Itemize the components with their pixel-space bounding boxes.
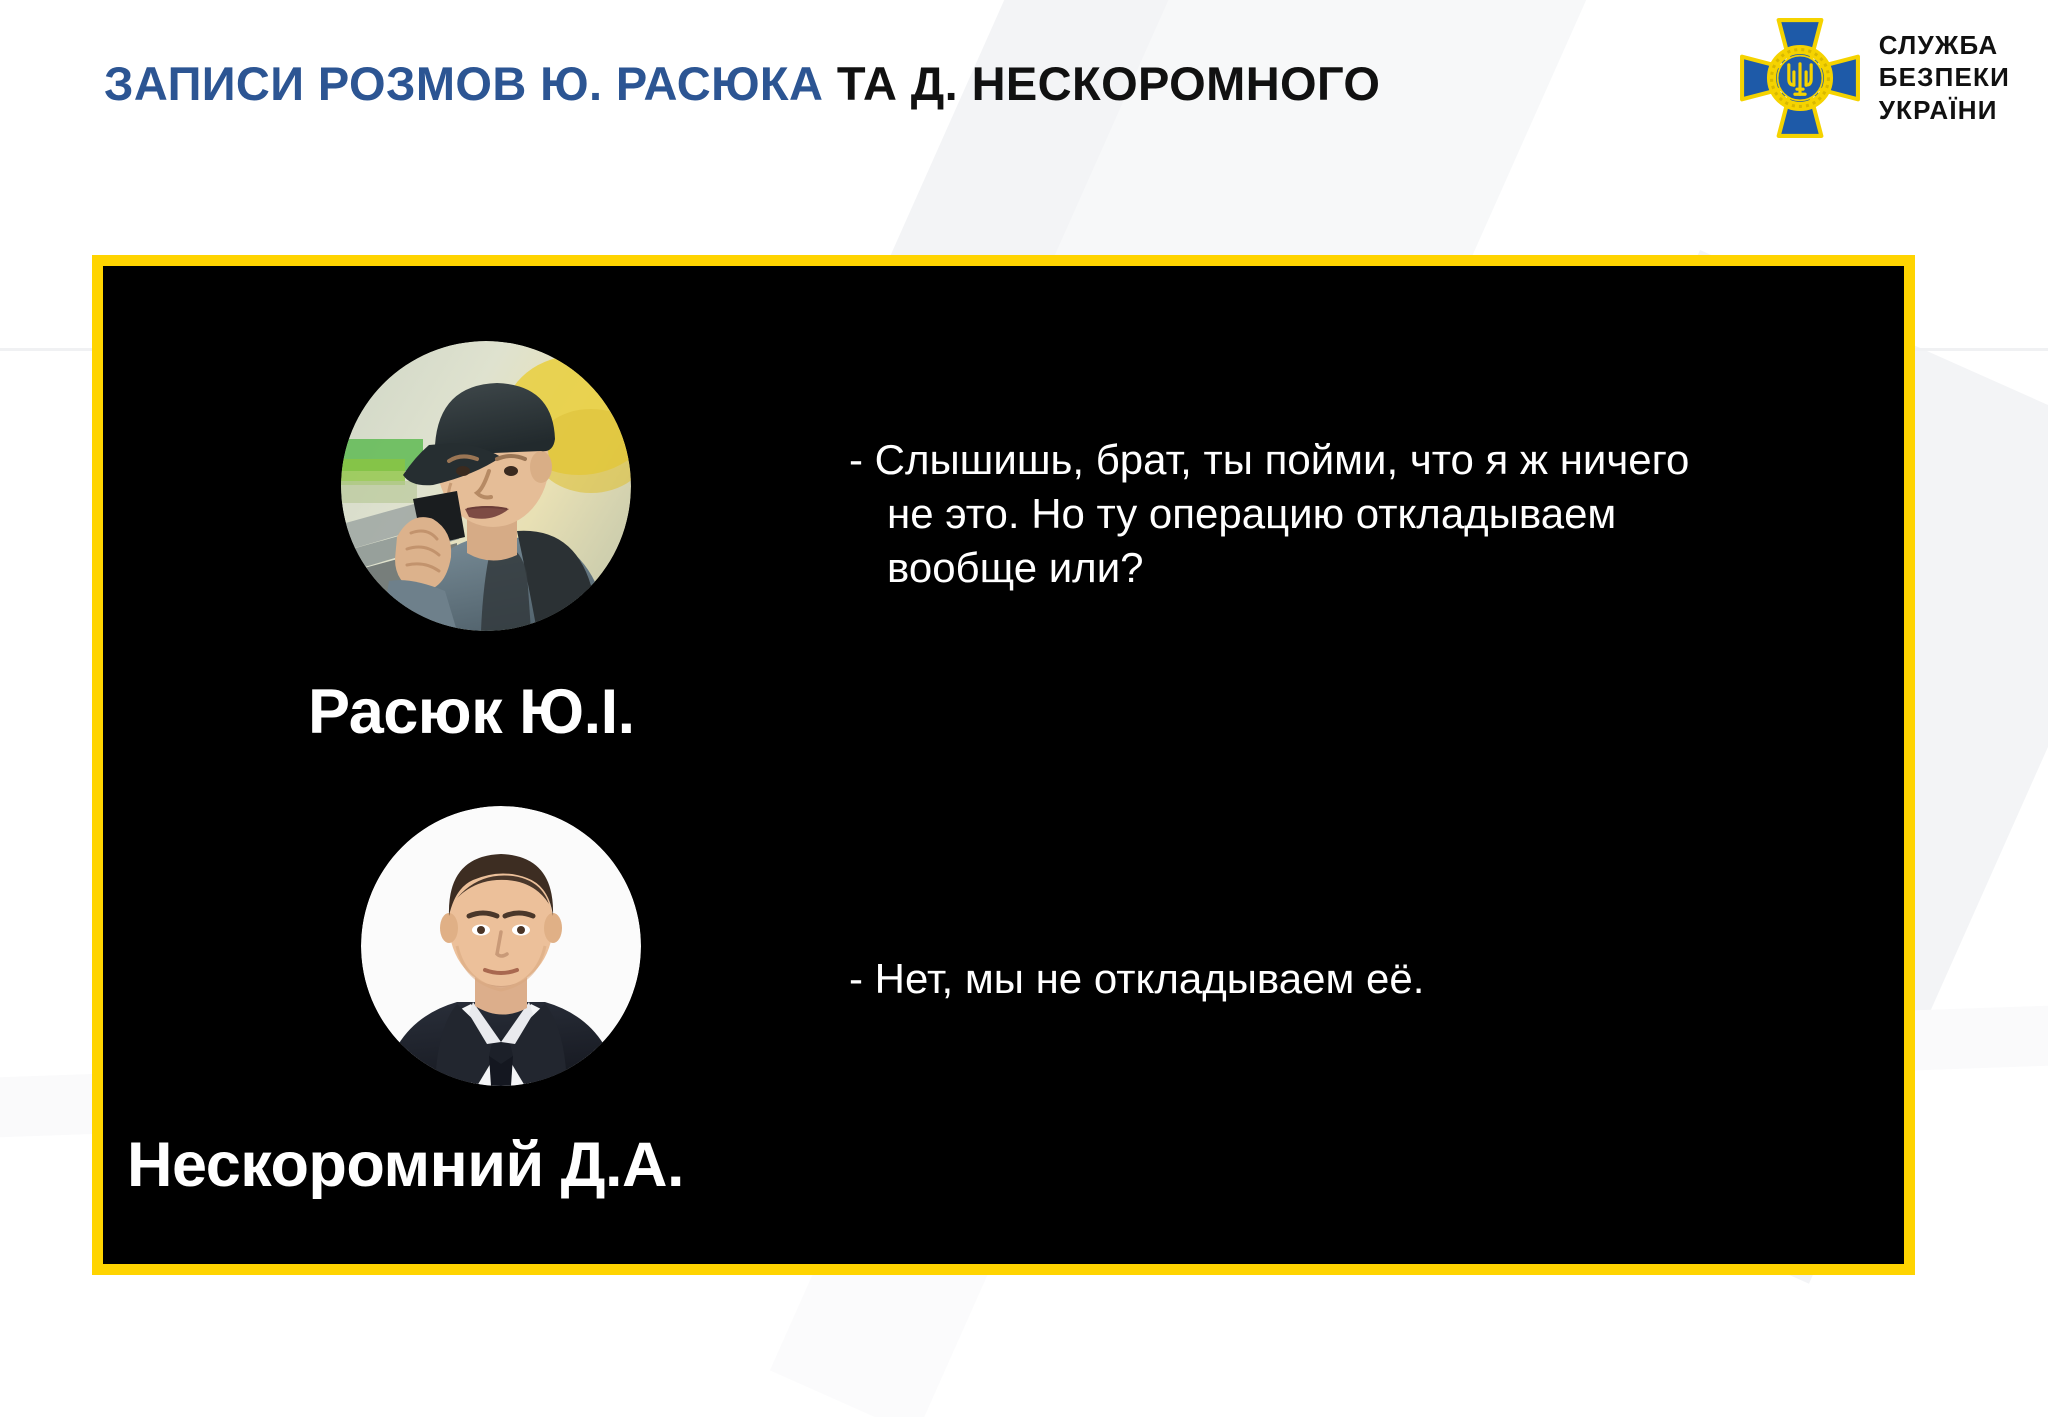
sbu-brand-lockup: СЛУЖБА БЕЗПЕКИ УКРАЇНИ: [1739, 16, 2010, 140]
speaker-name: Расюк Ю.І.: [308, 681, 635, 744]
quote-text: - Слышишь, брат, ты пойми, что я ж ничег…: [849, 433, 1689, 594]
quote-text: - Нет, мы не откладываем её.: [849, 952, 1424, 1006]
sbu-cross-emblem-icon: [1739, 16, 1861, 140]
brand-line-2: БЕЗПЕКИ: [1879, 63, 2010, 92]
sbu-wordmark: СЛУЖБА БЕЗПЕКИ УКРАЇНИ: [1879, 31, 2010, 124]
conversation-entry: Нескоромний Д.А. - Нет, мы не откладывае…: [103, 782, 1904, 1086]
brand-line-3: УКРАЇНИ: [1879, 96, 2010, 125]
speaker-block: Расюк Ю.І.: [103, 266, 823, 631]
conversation-panel: Расюк Ю.І. - Слышишь, брат, ты пойми, чт…: [92, 255, 1915, 1275]
quote-line: не это. Но ту операцию откладываем: [849, 487, 1689, 541]
quote-line: - Слышишь, брат, ты пойми, что я ж ничег…: [849, 433, 1689, 487]
avatar-neskoromnyi: [361, 806, 641, 1086]
conversation-entry: Расюк Ю.І. - Слышишь, брат, ты пойми, чт…: [103, 266, 1904, 631]
quote-line: - Нет, мы не откладываем её.: [849, 952, 1424, 1006]
speaker-name: Нескоромний Д.А.: [127, 1134, 684, 1197]
quote-line: вообще или?: [849, 541, 1689, 595]
avatar-rasyuk: [341, 341, 631, 631]
speaker-block: Нескоромний Д.А.: [103, 782, 823, 1086]
page-title-highlight: ЗАПИСИ РОЗМОВ Ю. РАСЮКА: [104, 57, 837, 110]
page-title-rest: ТА Д. НЕСКОРОМНОГО: [837, 57, 1381, 110]
slide-header: ЗАПИСИ РОЗМОВ Ю. РАСЮКА ТА Д. НЕСКОРОМНО…: [0, 0, 2048, 170]
page-title: ЗАПИСИ РОЗМОВ Ю. РАСЮКА ТА Д. НЕСКОРОМНО…: [104, 60, 1380, 107]
brand-line-1: СЛУЖБА: [1879, 31, 2010, 60]
slide-root: ЗАПИСИ РОЗМОВ Ю. РАСЮКА ТА Д. НЕСКОРОМНО…: [0, 0, 2048, 1417]
